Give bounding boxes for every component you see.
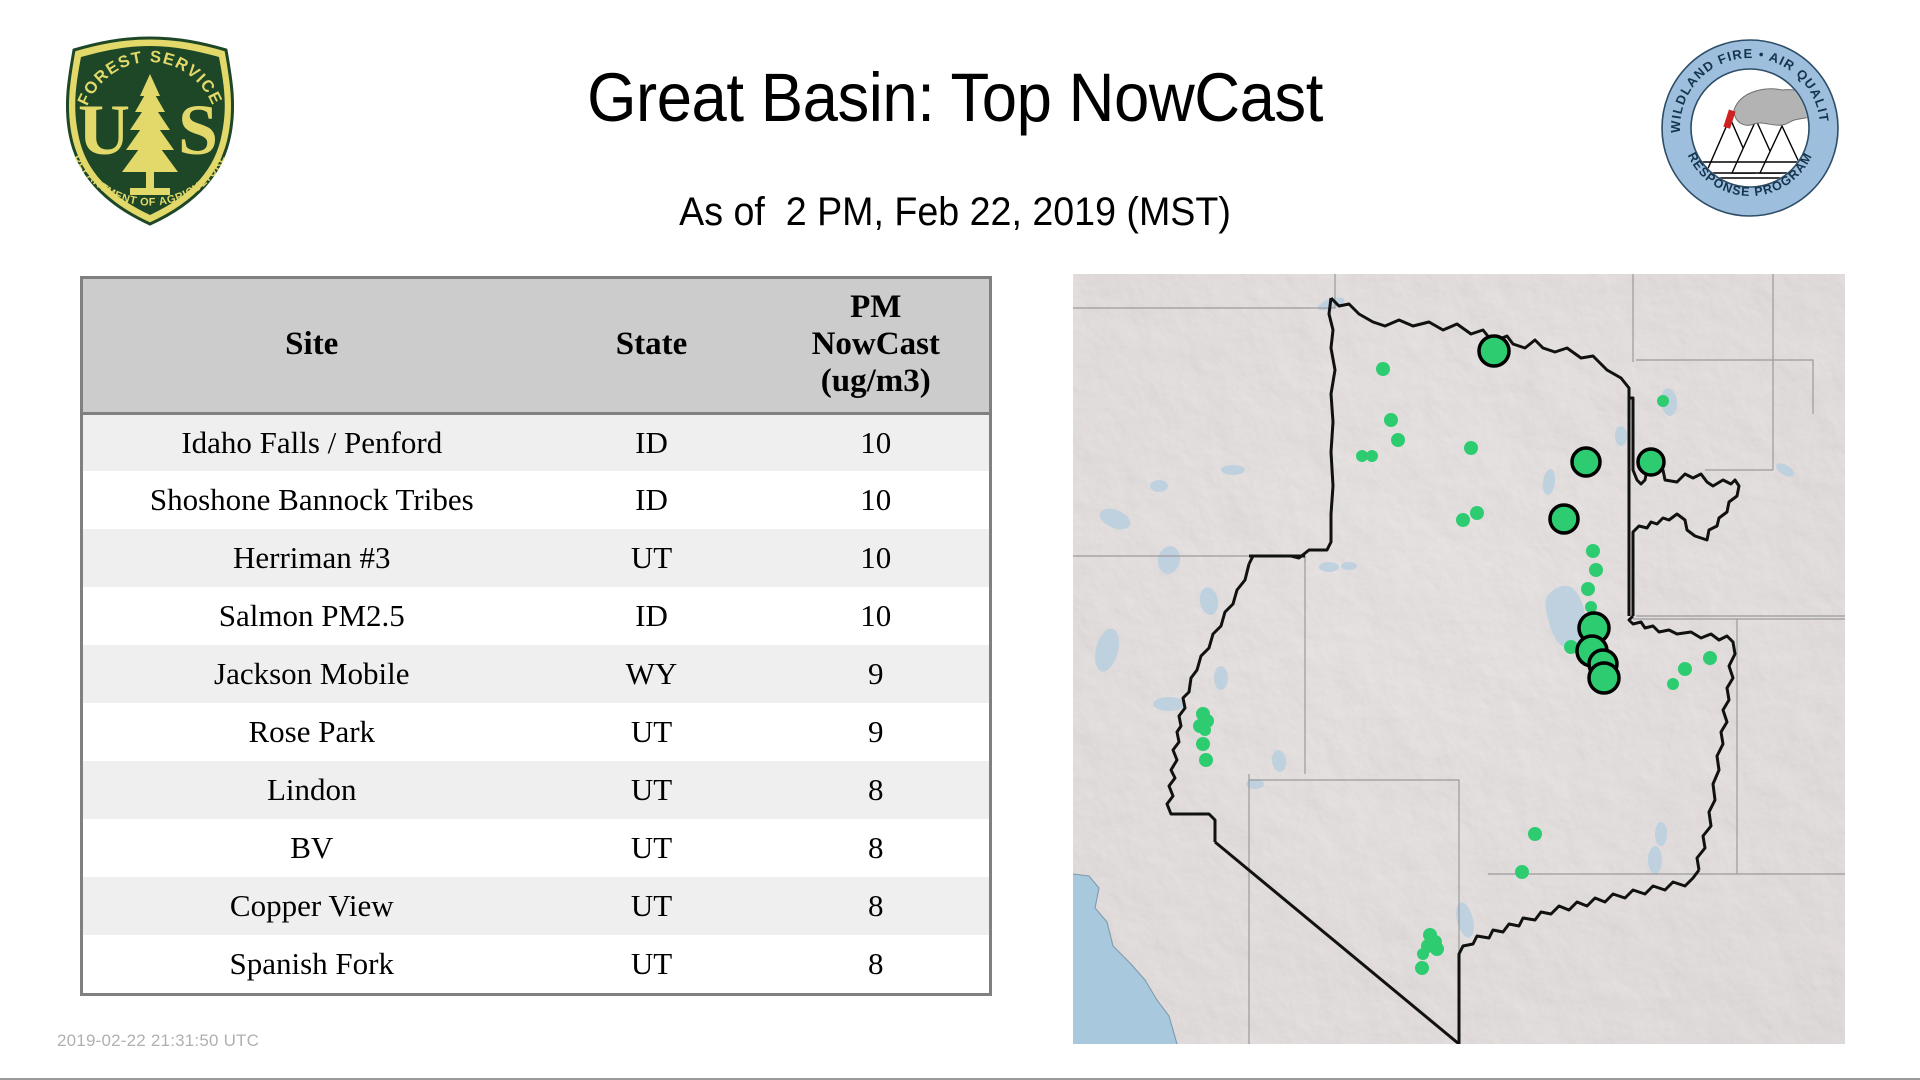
slide-page: U S FOREST SERVICE DEPARTMENT OF AGRICUL…	[0, 0, 1920, 1080]
table-cell-value: 8	[762, 819, 989, 877]
table-cell-state: UT	[541, 529, 763, 587]
table-cell-state: UT	[541, 703, 763, 761]
table-cell-value: 10	[762, 529, 989, 587]
page-subtitle: As of 2 PM, Feb 22, 2019 (MST)	[302, 190, 1609, 235]
map-monitor-dot[interactable]	[1196, 737, 1210, 751]
table-cell-state: WY	[541, 645, 763, 703]
table-cell-value: 8	[762, 935, 989, 993]
map-top-site-marker[interactable]	[1638, 449, 1664, 475]
table-cell-value: 9	[762, 645, 989, 703]
table-header: Site State PM NowCast (ug/m3)	[83, 279, 989, 413]
map-monitor-dot[interactable]	[1657, 395, 1669, 407]
nowcast-table-container: Site State PM NowCast (ug/m3) Idaho Fall…	[80, 276, 992, 996]
page-title: Great Basin: Top NowCast	[316, 58, 1595, 137]
table-cell-site: BV	[83, 819, 541, 877]
footer-timestamp: 2019-02-22 21:31:50 UTC	[57, 1031, 259, 1051]
map-monitor-dot[interactable]	[1515, 865, 1529, 879]
wfaqrp-seal-logo: WILDLAND FIRE • AIR QUALITY RESPONSE PRO…	[1660, 38, 1840, 218]
map-top-site-marker[interactable]	[1572, 448, 1600, 476]
table-cell-value: 8	[762, 761, 989, 819]
table-row: Copper ViewUT8	[83, 877, 989, 935]
map-monitor-dot[interactable]	[1376, 362, 1390, 376]
table-cell-site: Herriman #3	[83, 529, 541, 587]
map-monitor-dot[interactable]	[1703, 651, 1717, 665]
table-cell-site: Lindon	[83, 761, 541, 819]
map-monitor-dot[interactable]	[1586, 544, 1600, 558]
table-cell-state: ID	[541, 587, 763, 645]
map-monitor-dot[interactable]	[1589, 563, 1603, 577]
table-cell-site: Spanish Fork	[83, 935, 541, 993]
table-cell-state: UT	[541, 935, 763, 993]
map-monitor-dot[interactable]	[1417, 948, 1429, 960]
table-cell-site: Idaho Falls / Penford	[83, 413, 541, 471]
table-cell-site: Rose Park	[83, 703, 541, 761]
table-header-row: Site State PM NowCast (ug/m3)	[83, 279, 989, 413]
column-header-site: Site	[83, 279, 541, 413]
table-cell-site: Salmon PM2.5	[83, 587, 541, 645]
map-monitor-dot[interactable]	[1585, 601, 1597, 613]
map-monitor-dot[interactable]	[1581, 582, 1595, 596]
table-cell-value: 10	[762, 413, 989, 471]
table-row: Rose ParkUT9	[83, 703, 989, 761]
map-monitor-dot[interactable]	[1366, 450, 1378, 462]
nowcast-table: Site State PM NowCast (ug/m3) Idaho Fall…	[83, 279, 989, 993]
map-monitor-dot[interactable]	[1470, 506, 1484, 520]
map-monitor-dot[interactable]	[1430, 942, 1444, 956]
table-row: LindonUT8	[83, 761, 989, 819]
map-monitor-dot[interactable]	[1415, 961, 1429, 975]
map-top-site-marker[interactable]	[1589, 663, 1619, 693]
map-monitor-dot[interactable]	[1199, 724, 1211, 736]
table-row: BVUT8	[83, 819, 989, 877]
map-monitor-dot[interactable]	[1667, 678, 1679, 690]
map-monitor-dot[interactable]	[1528, 827, 1542, 841]
table-cell-state: UT	[541, 761, 763, 819]
table-cell-site: Copper View	[83, 877, 541, 935]
table-cell-value: 8	[762, 877, 989, 935]
table-body: Idaho Falls / PenfordID10Shoshone Bannoc…	[83, 413, 989, 993]
map-top-site-marker[interactable]	[1550, 505, 1578, 533]
table-row: Jackson MobileWY9	[83, 645, 989, 703]
column-header-pm-nowcast: PM NowCast (ug/m3)	[762, 279, 989, 413]
table-row: Shoshone Bannock TribesID10	[83, 471, 989, 529]
table-row: Salmon PM2.5ID10	[83, 587, 989, 645]
table-cell-site: Shoshone Bannock Tribes	[83, 471, 541, 529]
table-cell-value: 9	[762, 703, 989, 761]
map-monitor-dot[interactable]	[1464, 441, 1478, 455]
great-basin-monitor-map[interactable]	[1073, 274, 1845, 1044]
table-row: Spanish ForkUT8	[83, 935, 989, 993]
table-cell-site: Jackson Mobile	[83, 645, 541, 703]
table-cell-state: ID	[541, 413, 763, 471]
table-cell-value: 10	[762, 471, 989, 529]
table-cell-state: ID	[541, 471, 763, 529]
map-monitor-dot[interactable]	[1199, 753, 1213, 767]
map-monitor-dot[interactable]	[1678, 662, 1692, 676]
table-row: Herriman #3UT10	[83, 529, 989, 587]
map-top-site-marker[interactable]	[1479, 336, 1509, 366]
table-cell-state: UT	[541, 877, 763, 935]
column-header-state: State	[541, 279, 763, 413]
map-monitor-dot[interactable]	[1391, 433, 1405, 447]
usfs-shield-logo: U S FOREST SERVICE DEPARTMENT OF AGRICUL…	[50, 30, 250, 230]
table-cell-state: UT	[541, 819, 763, 877]
map-monitor-dot[interactable]	[1384, 413, 1398, 427]
table-cell-value: 10	[762, 587, 989, 645]
map-monitor-dot[interactable]	[1456, 513, 1470, 527]
table-row: Idaho Falls / PenfordID10	[83, 413, 989, 471]
